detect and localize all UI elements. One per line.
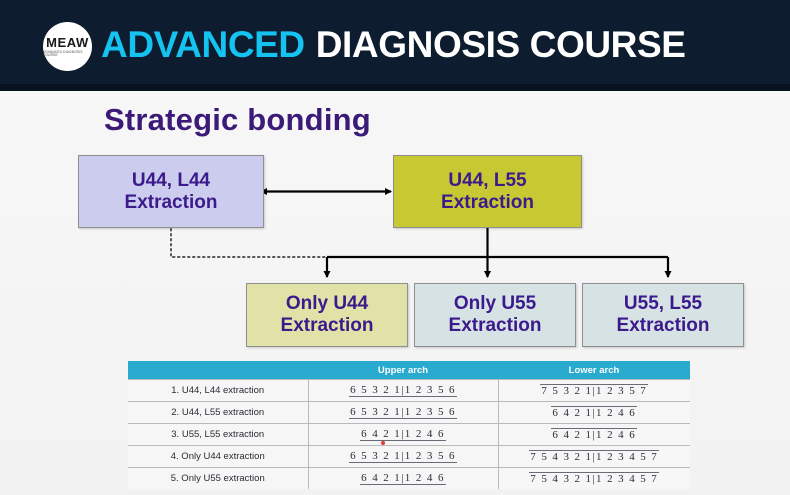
slide-body: Strategic bonding: [0, 91, 790, 495]
table-cell-upper: 6 4 2 1|1 2 4 6: [308, 424, 498, 446]
slide-page: MEAW ADVANCED DIAGNOSIS COURSE ADVANCED …: [0, 0, 790, 495]
table-cell-lower: 7 5 4 3 2 1|1 2 3 4 5 7: [498, 446, 690, 468]
flow-box-u44-l44-line1: U44, L44: [132, 170, 210, 192]
table-row: 5. Only U55 extraction6 4 2 1|1 2 4 67 5…: [128, 468, 690, 490]
flow-box-u55-l55-line1: U55, L55: [624, 293, 702, 315]
table-cell-upper: 6 5 3 2 1|1 2 3 5 6: [308, 402, 498, 424]
highlight-marker-icon: [381, 441, 385, 445]
meaw-logo: MEAW ADVANCED DIAGNOSIS COURSE: [43, 22, 92, 71]
flow-box-only-u44-line1: Only U44: [286, 293, 368, 315]
arch-notation-table: Upper arch Lower arch 1. U44, L44 extrac…: [128, 361, 690, 489]
flow-box-u44-l55-line2: Extraction: [441, 192, 534, 214]
slide-title: Strategic bonding: [104, 102, 371, 138]
table-row-label: 2. U44, L55 extraction: [128, 402, 308, 424]
table-row: 2. U44, L55 extraction6 5 3 2 1|1 2 3 5 …: [128, 402, 690, 424]
table-row-label: 5. Only U55 extraction: [128, 468, 308, 490]
flow-box-u55-l55[interactable]: U55, L55 Extraction: [582, 283, 744, 347]
flow-box-u44-l44[interactable]: U44, L44 Extraction: [78, 155, 264, 228]
connector-dotted: [171, 229, 327, 257]
banner-title: ADVANCED DIAGNOSIS COURSE: [101, 20, 686, 70]
table-cell-upper: 6 4 2 1|1 2 4 6: [308, 468, 498, 490]
table-header-upper-arch: Upper arch: [308, 361, 498, 380]
table-header-row: Upper arch Lower arch: [128, 361, 690, 380]
table-header-lower-arch: Lower arch: [498, 361, 690, 380]
arch-notation-upper: 6 4 2 1|1 2 4 6: [360, 428, 446, 441]
table-cell-upper: 6 5 3 2 1|1 2 3 5 6: [308, 380, 498, 402]
arch-notation-upper: 6 5 3 2 1|1 2 3 5 6: [349, 406, 457, 419]
arch-notation-lower: 7 5 3 2 1|1 2 3 5 7: [540, 384, 648, 397]
table-cell-lower: 7 5 3 2 1|1 2 3 5 7: [498, 380, 690, 402]
arch-notation-lower: 7 5 4 3 2 1|1 2 3 4 5 7: [529, 450, 659, 463]
table-cell-lower: 7 5 4 3 2 1|1 2 3 4 5 7: [498, 468, 690, 490]
flow-box-u44-l44-line2: Extraction: [125, 192, 218, 214]
arch-notation-lower: 6 4 2 1|1 2 4 6: [551, 428, 637, 441]
arch-notation-lower: 6 4 2 1|1 2 4 6: [551, 406, 637, 419]
table-cell-upper: 6 5 3 2 1|1 2 3 5 6: [308, 446, 498, 468]
table-row: 1. U44, L44 extraction6 5 3 2 1|1 2 3 5 …: [128, 380, 690, 402]
flow-box-u44-l55[interactable]: U44, L55 Extraction: [393, 155, 582, 228]
course-banner: MEAW ADVANCED DIAGNOSIS COURSE ADVANCED …: [0, 0, 790, 84]
table-cell-lower: 6 4 2 1|1 2 4 6: [498, 402, 690, 424]
arch-notation-upper: 6 5 3 2 1|1 2 3 5 6: [349, 384, 457, 397]
table-row-label: 4. Only U44 extraction: [128, 446, 308, 468]
flow-box-u44-l55-line1: U44, L55: [448, 170, 526, 192]
banner-bottom-strip: [0, 84, 790, 91]
flow-box-u55-l55-line2: Extraction: [617, 315, 710, 337]
flow-box-only-u44[interactable]: Only U44 Extraction: [246, 283, 408, 347]
flow-box-only-u55-line1: Only U55: [454, 293, 536, 315]
flow-box-only-u44-line2: Extraction: [281, 315, 374, 337]
table-row-label: 3. U55, L55 extraction: [128, 424, 308, 446]
flow-box-only-u55-line2: Extraction: [449, 315, 542, 337]
flow-box-only-u55[interactable]: Only U55 Extraction: [414, 283, 576, 347]
logo-sub-text: ADVANCED DIAGNOSIS COURSE: [43, 51, 92, 57]
table-row: 4. Only U44 extraction6 5 3 2 1|1 2 3 5 …: [128, 446, 690, 468]
table-row: 3. U55, L55 extraction6 4 2 1|1 2 4 66 4…: [128, 424, 690, 446]
table-cell-lower: 6 4 2 1|1 2 4 6: [498, 424, 690, 446]
logo-main-text: MEAW: [46, 36, 89, 49]
table-row-label: 1. U44, L44 extraction: [128, 380, 308, 402]
arch-notation-upper: 6 5 3 2 1|1 2 3 5 6: [349, 450, 457, 463]
table-header-blank: [128, 361, 308, 380]
arch-notation-upper: 6 4 2 1|1 2 4 6: [360, 472, 446, 485]
banner-title-accent: ADVANCED: [101, 24, 305, 66]
banner-title-plain: DIAGNOSIS COURSE: [316, 24, 686, 66]
arch-notation-lower: 7 5 4 3 2 1|1 2 3 4 5 7: [529, 472, 659, 485]
